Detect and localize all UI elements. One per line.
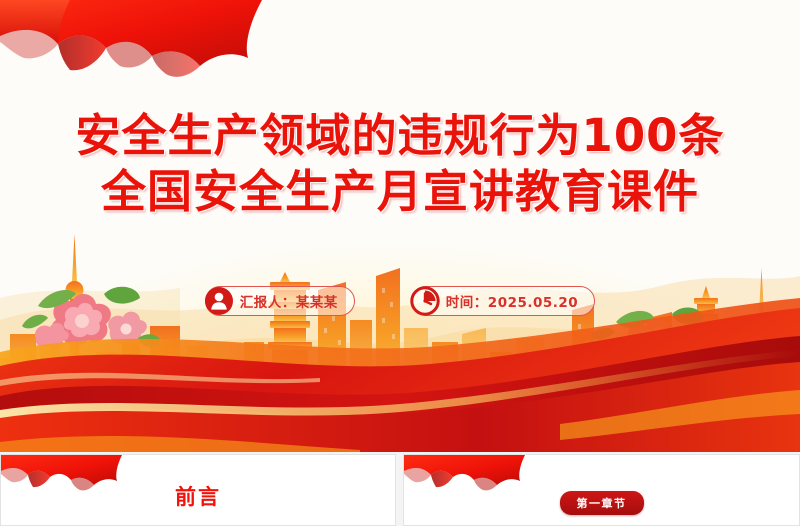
person-icon [204,286,234,316]
date-badge[interactable]: 时间：2025.05.20 [411,286,595,316]
waving-flag-ribbon [0,0,270,105]
presenter-label: 汇报人：某某某 [240,291,338,311]
thumbnail-preface-label: 前言 [1,481,395,511]
slide-meta-row: 汇报人：某某某 时间：2025.05.20 [0,286,800,316]
thumbnail-chapter-one[interactable]: 第一章节 [403,454,800,526]
title-slide[interactable]: 安全生产领域的违规行为100条 全国安全生产月宣讲教育课件 汇报人：某某某 [0,0,800,452]
slide-title: 安全生产领域的违规行为100条 全国安全生产月宣讲教育课件 [0,108,800,220]
presentation-canvas: 安全生产领域的违规行为100条 全国安全生产月宣讲教育课件 汇报人：某某某 [0,0,800,526]
presenter-badge[interactable]: 汇报人：某某某 [205,286,355,316]
red-wave-ribbons [0,292,800,452]
clock-icon [410,286,440,316]
thumbnail-preface[interactable]: 前言 [0,454,396,526]
date-label: 时间：2025.05.20 [446,291,578,311]
waving-flag-ribbon [404,455,529,501]
slide-thumbnail-strip: 前言 [0,452,800,526]
title-line-2: 全国安全生产月宣讲教育课件 [0,164,800,220]
title-line-1: 安全生产领域的违规行为100条 [0,108,800,164]
chapter-badge: 第一章节 [560,491,644,515]
